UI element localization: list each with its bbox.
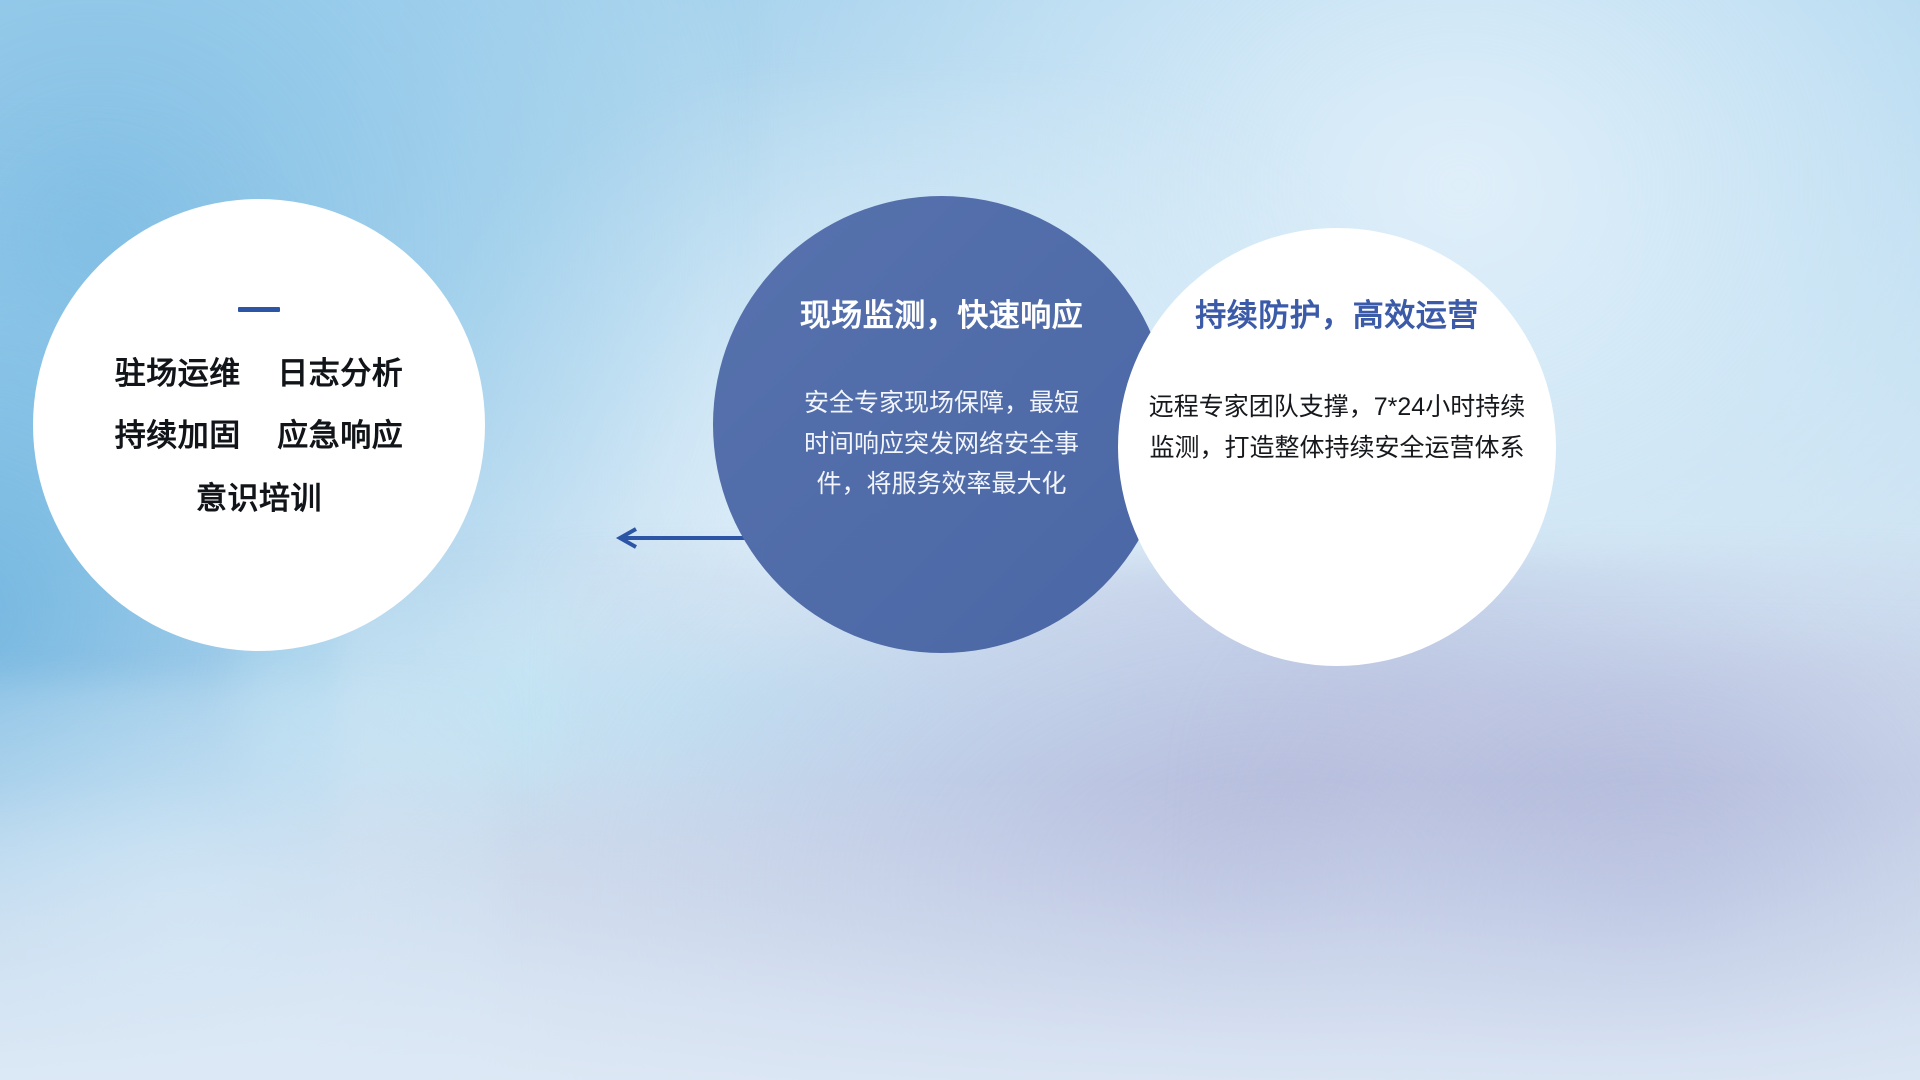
capabilities-content: 驻场运维 日志分析 持续加固 应急响应 意识培训 bbox=[33, 199, 485, 651]
capabilities-line-3: 意识培训 bbox=[196, 479, 322, 519]
continuous-protection-body: 远程专家团队支撑，7*24小时持续监测，打造整体持续安全运营体系 bbox=[1137, 387, 1537, 468]
onsite-monitoring-title: 现场监测，快速响应 bbox=[800, 290, 1084, 335]
slide-canvas: 现场监测，快速响应 安全专家现场保障，最短时间响应突发网络安全事件，将服务效率最… bbox=[0, 0, 1920, 1080]
onsite-monitoring-content: 现场监测，快速响应 安全专家现场保障，最短时间响应突发网络安全事件，将服务效率最… bbox=[713, 196, 1170, 653]
divider-line bbox=[238, 307, 280, 312]
background-bottom-fade bbox=[0, 780, 1920, 1080]
continuous-protection-title: 持续防护，高效运营 bbox=[1195, 290, 1479, 335]
capabilities-line-2: 持续加固 应急响应 bbox=[115, 416, 403, 456]
continuous-protection-content: 持续防护，高效运营 远程专家团队支撑，7*24小时持续监测，打造整体持续安全运营… bbox=[1118, 228, 1556, 666]
capabilities-line-1: 驻场运维 日志分析 bbox=[115, 354, 403, 394]
onsite-monitoring-body: 安全专家现场保障，最短时间响应突发网络安全事件，将服务效率最大化 bbox=[793, 383, 1091, 505]
